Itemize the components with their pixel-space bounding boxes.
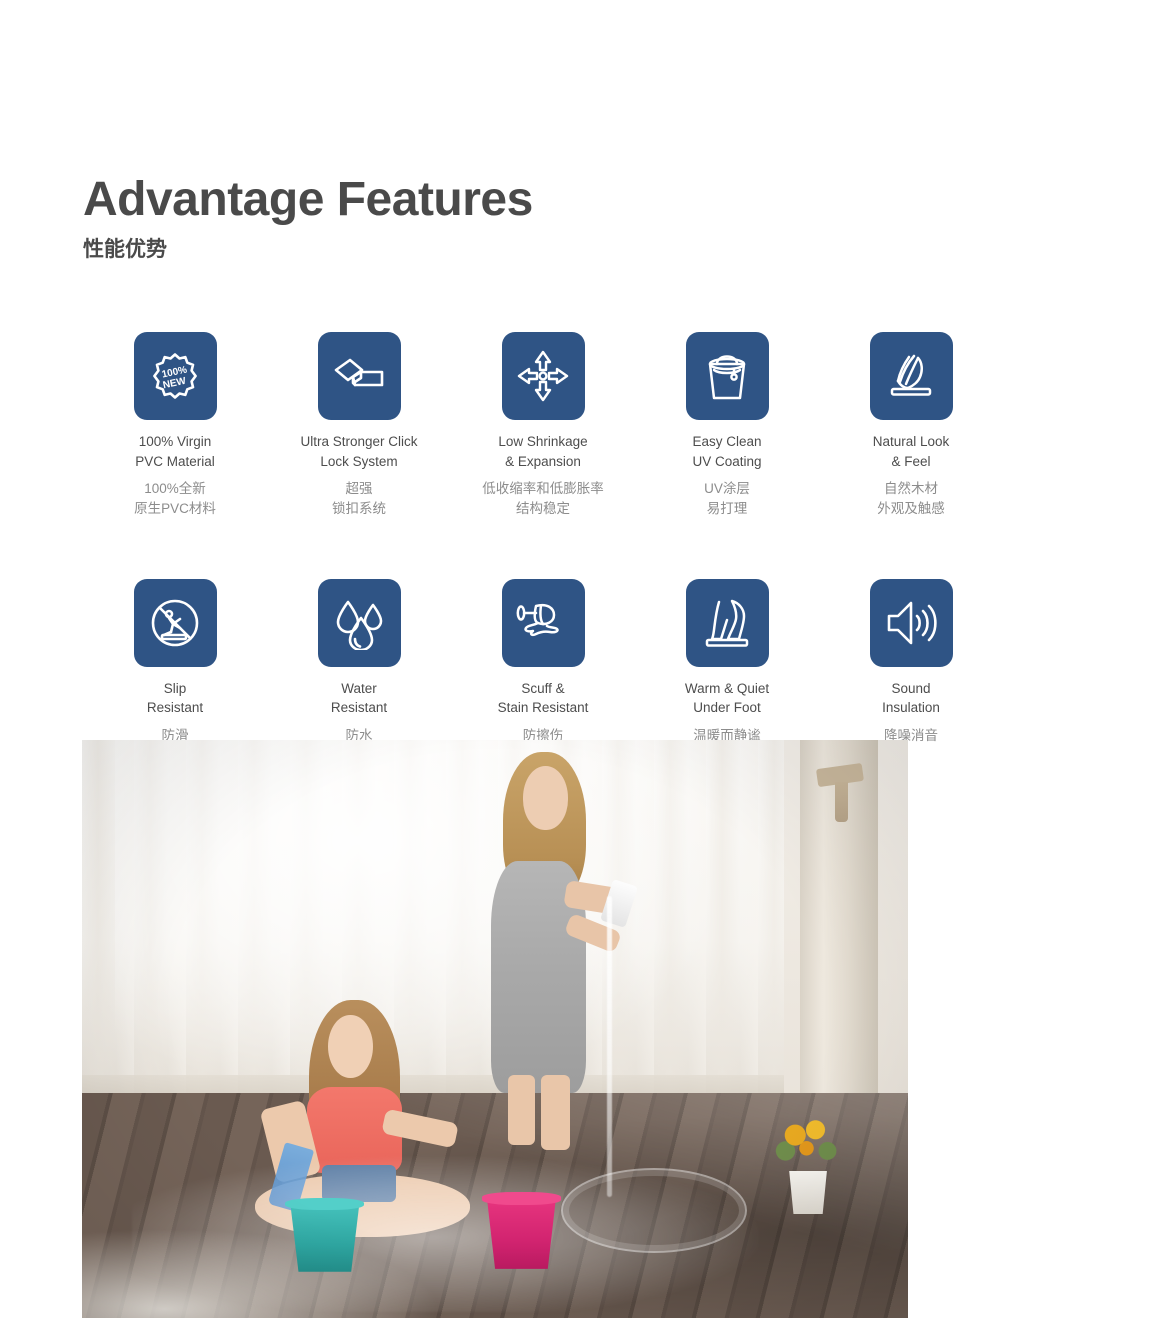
feature-label-en: Easy Clean UV Coating xyxy=(692,432,761,471)
feature-item-slip-resistant[interactable]: Slip Resistant 防滑 xyxy=(83,579,267,767)
feature-label-en: Warm & Quiet Under Foot xyxy=(685,679,769,718)
feature-label-en: Low Shrinkage & Expansion xyxy=(498,432,587,471)
feature-item-scuff-stain-resistant[interactable]: Scuff & Stain Resistant 防擦伤 防污渍 xyxy=(451,579,635,767)
feature-item-water-resistant[interactable]: Water Resistant 防水 xyxy=(267,579,451,767)
feature-label-en: Water Resistant xyxy=(331,679,387,718)
feature-label-cn: 超强 锁扣系统 xyxy=(332,479,386,520)
feature-label-en: Scuff & Stain Resistant xyxy=(498,679,589,718)
feature-label-en: Sound Insulation xyxy=(882,679,940,718)
feature-label-en: Natural Look & Feel xyxy=(873,432,950,471)
photo-vignette xyxy=(82,740,908,1318)
bucket-icon xyxy=(686,332,769,420)
badge-100-percent-new-icon: 100% NEW xyxy=(134,332,217,420)
water-drops-icon xyxy=(318,579,401,667)
page-subtitle-chinese: 性能优势 xyxy=(83,237,533,262)
bare-feet-on-floor-icon xyxy=(686,579,769,667)
speaker-sound-waves-icon xyxy=(870,579,953,667)
feature-item-click-lock[interactable]: Ultra Stronger Click Lock System 超强 锁扣系统 xyxy=(267,332,451,520)
lifestyle-photo xyxy=(82,740,908,1318)
hand-touching-surface-icon xyxy=(870,332,953,420)
four-way-arrows-icon xyxy=(502,332,585,420)
feature-row-1: 100% NEW 100% Virgin PVC Material 100%全新… xyxy=(83,332,1003,520)
feature-label-cn: 自然木材 外观及触感 xyxy=(877,479,945,520)
feature-row-2: Slip Resistant 防滑 Water Resistant 防水 xyxy=(83,579,1003,767)
feature-item-natural-look[interactable]: Natural Look & Feel 自然木材 外观及触感 xyxy=(819,332,1003,520)
spilled-wine-glass-icon xyxy=(502,579,585,667)
feature-label-en: Slip Resistant xyxy=(147,679,203,718)
feature-item-easy-clean[interactable]: Easy Clean UV Coating UV涂层 易打理 xyxy=(635,332,819,520)
feature-item-virgin-pvc[interactable]: 100% NEW 100% Virgin PVC Material 100%全新… xyxy=(83,332,267,520)
heading-block: Advantage Features 性能优势 xyxy=(83,175,533,263)
feature-label-cn: 低收缩率和低膨胀率 结构稳定 xyxy=(482,479,604,520)
page-title: Advantage Features xyxy=(83,175,533,225)
feature-label-cn: 100%全新 原生PVC材料 xyxy=(134,479,216,520)
feature-label-en: 100% Virgin PVC Material xyxy=(135,432,215,471)
feature-item-sound-insulation[interactable]: Sound Insulation 降噪消音 xyxy=(819,579,1003,767)
feature-label-en: Ultra Stronger Click Lock System xyxy=(300,432,417,471)
feature-grid: 100% NEW 100% Virgin PVC Material 100%全新… xyxy=(83,332,1003,766)
feature-item-low-shrinkage[interactable]: Low Shrinkage & Expansion 低收缩率和低膨胀率 结构稳定 xyxy=(451,332,635,520)
photo-scene xyxy=(82,740,908,1318)
advantage-features-page: Advantage Features 性能优势 100% NEW 100% Vi… xyxy=(0,0,1153,1330)
click-lock-plank-icon xyxy=(318,332,401,420)
feature-item-warm-quiet-underfoot[interactable]: Warm & Quiet Under Foot 温暖而静谧 脚下生春 xyxy=(635,579,819,767)
no-slipping-icon xyxy=(134,579,217,667)
feature-label-cn: UV涂层 易打理 xyxy=(704,479,750,520)
